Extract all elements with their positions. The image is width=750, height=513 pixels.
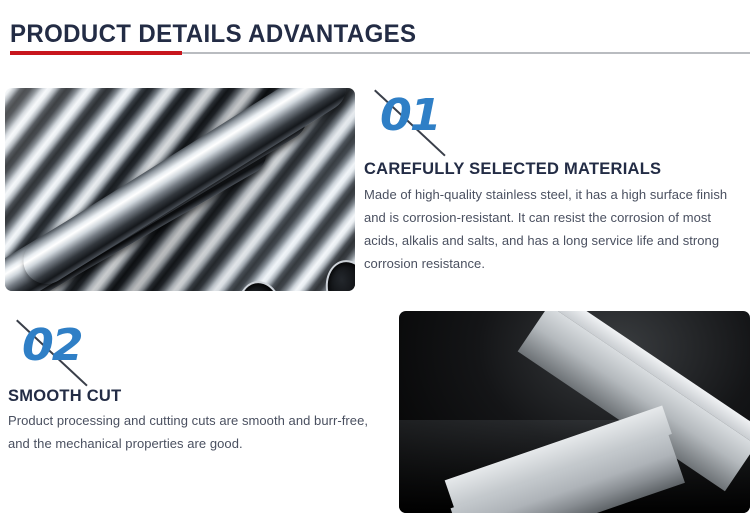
feature-image-round-tubes — [5, 88, 355, 291]
feature-number-02: 02 — [22, 324, 82, 368]
feature-number-badge-02: 02 — [8, 320, 80, 388]
feature-body-02: Product processing and cutting cuts are … — [8, 409, 392, 455]
tube-bore — [321, 257, 355, 291]
product-details-advantages-page: PRODUCT DETAILS ADVANTAGES 01 CAREFULLY … — [0, 0, 750, 513]
section-header: PRODUCT DETAILS ADVANTAGES — [0, 0, 750, 62]
feature-image-square-tube — [399, 311, 750, 513]
feature-title-02: SMOOTH CUT — [8, 387, 121, 406]
underline-red-segment — [10, 51, 182, 55]
feature-number-01: 01 — [380, 94, 440, 138]
page-title: PRODUCT DETAILS ADVANTAGES — [10, 20, 416, 49]
feature-number-badge-01: 01 — [366, 90, 438, 158]
feature-title-01: CAREFULLY SELECTED MATERIALS — [364, 160, 661, 179]
tube-bore — [233, 278, 286, 291]
feature-body-01: Made of high-quality stainless steel, it… — [364, 183, 748, 275]
title-underline — [10, 51, 750, 55]
tube-shape — [15, 88, 355, 291]
